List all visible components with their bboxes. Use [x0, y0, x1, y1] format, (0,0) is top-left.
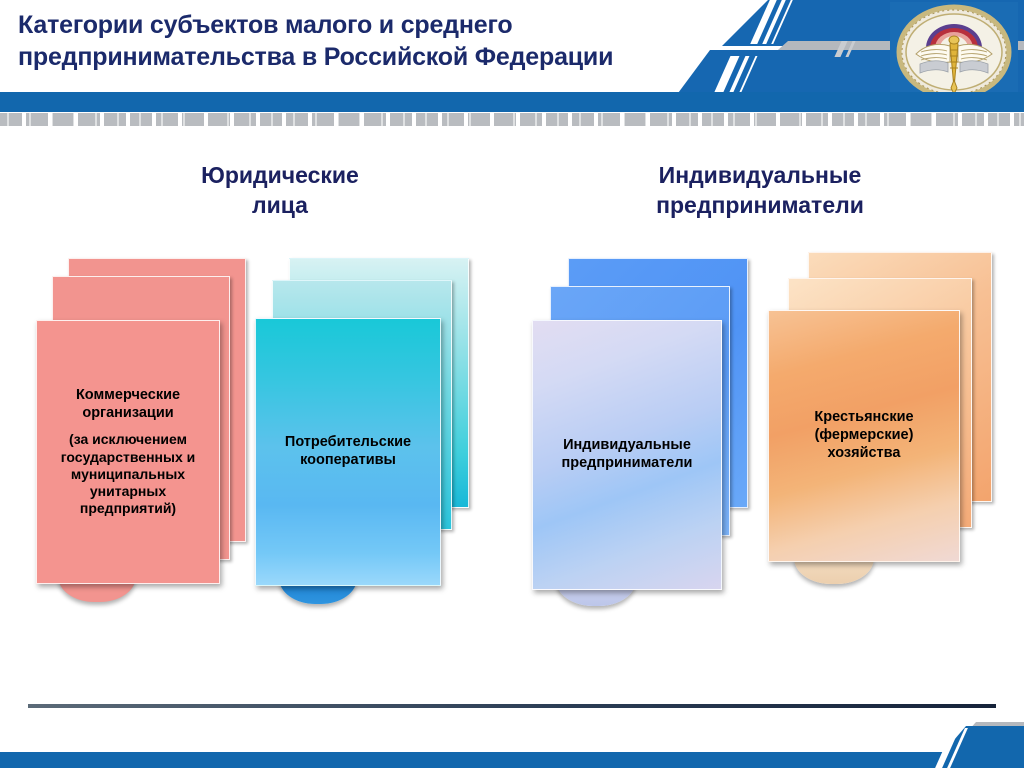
header-tick-band [0, 113, 1024, 126]
card-stack-individual-entrepreneurs[interactable]: Индивидуальные предприниматели [532, 258, 768, 610]
card-text: Коммерческие организации (за исключением… [37, 387, 219, 517]
russian-federation-chamber-emblem-icon [890, 2, 1018, 102]
slide-header: Категории субъектов малого и среднего пр… [0, 0, 1024, 112]
card-text: Индивидуальные предприниматели [533, 437, 721, 472]
column-heading-individual-entrepreneurs: Индивидуальные предприниматели [600, 160, 920, 221]
card-line-1: Крестьянские (фермерские) хозяйства [779, 409, 949, 462]
column-heading-legal-entities-line-2: лица [140, 190, 420, 220]
card-line-1: Коммерческие организации [47, 387, 209, 422]
card-stack-consumer-cooperatives[interactable]: Потребительские кооперативы [255, 258, 485, 606]
card-text: Крестьянские (фермерские) хозяйства [769, 409, 959, 462]
column-heading-individual-entrepreneurs-line-1: Индивидуальные [600, 160, 920, 190]
card-line-1: Индивидуальные предприниматели [543, 437, 711, 472]
card-front-consumer-cooperatives[interactable]: Потребительские кооперативы [255, 318, 441, 586]
emblem-container [890, 2, 1018, 102]
card-front-commercial-organizations[interactable]: Коммерческие организации (за исключением… [36, 320, 220, 584]
card-front-individual-entrepreneurs[interactable]: Индивидуальные предприниматели [532, 320, 722, 590]
column-heading-individual-entrepreneurs-line-2: предприниматели [600, 190, 920, 220]
page-title-line-1: Категории субъектов малого и среднего [18, 10, 678, 42]
footer-blue-bar [0, 752, 1024, 768]
card-stack-commercial-organizations[interactable]: Коммерческие организации (за исключением… [36, 258, 256, 606]
footer-rule [28, 704, 996, 708]
card-front-peasant-farm-holdings[interactable]: Крестьянские (фермерские) хозяйства [768, 310, 960, 562]
card-text: Потребительские кооперативы [256, 434, 440, 469]
card-line-2: (за исключением государственных и муници… [47, 431, 209, 516]
column-heading-legal-entities-line-1: Юридические [140, 160, 420, 190]
card-line-1: Потребительские кооперативы [266, 434, 430, 469]
header-blue-strip [0, 92, 1024, 112]
page-title-line-2: предпринимательства в Российской Федерац… [18, 42, 678, 74]
card-stack-peasant-farm-holdings[interactable]: Крестьянские (фермерские) хозяйства [768, 252, 1008, 604]
column-heading-legal-entities: Юридические лица [140, 160, 420, 221]
page-title: Категории субъектов малого и среднего пр… [18, 10, 678, 73]
